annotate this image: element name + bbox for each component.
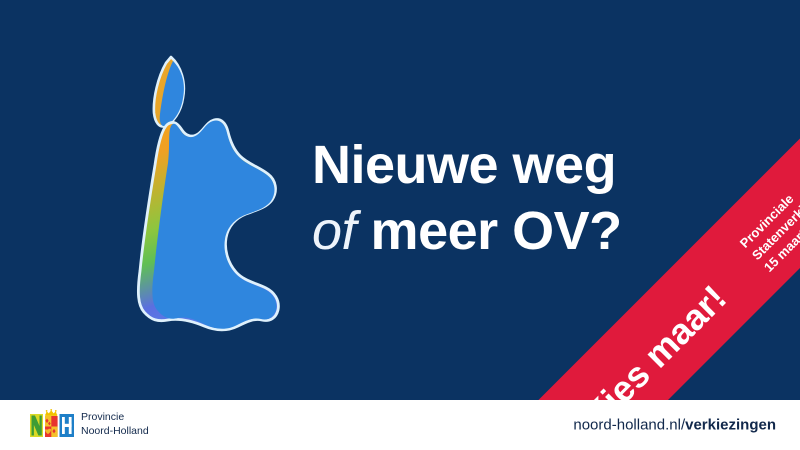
headline-line-1: Nieuwe weg <box>312 138 732 192</box>
url-domain: noord-holland.nl/ <box>573 417 685 434</box>
url-path: verkiezingen <box>685 417 776 434</box>
logo-line-2: Noord-Holland <box>81 425 149 438</box>
letter-h <box>60 414 75 437</box>
campaign-poster: Nieuwe weg of meer OV? Kies maar! Provin… <box>0 0 800 450</box>
texel-island-shape <box>154 57 184 126</box>
noord-holland-map-shape <box>138 120 278 330</box>
ribbon-subtext: Provinciale Statenverkiezingen 15 maart … <box>736 156 800 276</box>
provincie-noord-holland-logo[interactable]: Provincie Noord-Holland <box>30 409 149 440</box>
provincie-noord-holland-coat-of-arms <box>30 409 74 440</box>
footer-bar: Provincie Noord-Holland noord-holland.nl… <box>0 400 800 450</box>
logo-wordmark: Provincie Noord-Holland <box>81 411 149 438</box>
map-svg <box>120 50 300 340</box>
shield-icon <box>45 416 58 437</box>
page-title: Nieuwe weg of meer OV? <box>312 138 732 258</box>
logo-line-1: Provincie <box>81 411 149 424</box>
crown-icon <box>45 409 57 416</box>
website-url[interactable]: noord-holland.nl/verkiezingen <box>573 417 776 434</box>
headline-italic-word: of <box>312 201 356 261</box>
headline-line-2-rest: meer OV? <box>356 201 622 261</box>
poster-canvas: Nieuwe weg of meer OV? Kies maar! Provin… <box>0 0 800 400</box>
headline-line-2: of meer OV? <box>312 204 732 258</box>
noord-holland-map-illustration <box>120 50 300 340</box>
